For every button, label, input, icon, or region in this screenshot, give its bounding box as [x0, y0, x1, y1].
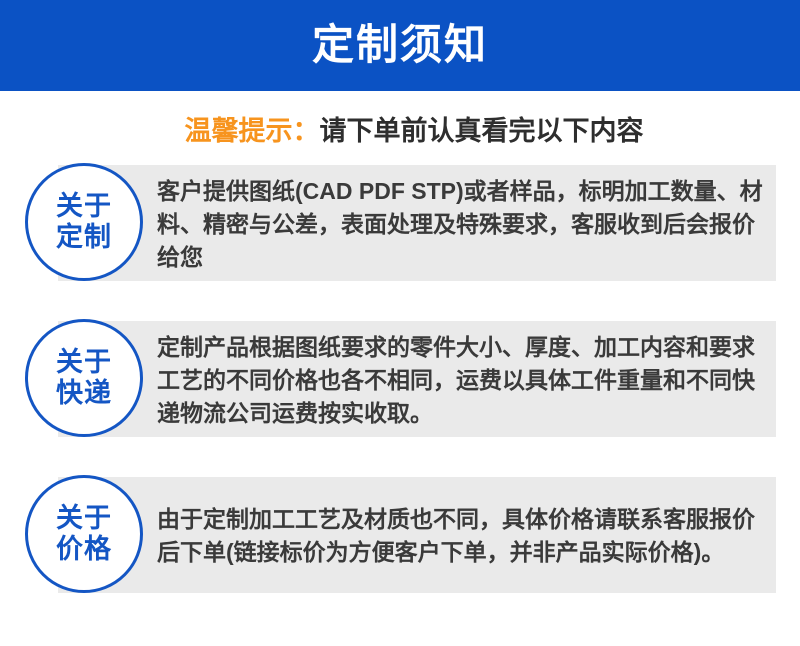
badge-shipping: 关于 快递	[25, 319, 143, 437]
subtitle-row: 温馨提示： 请下单前认真看完以下内容	[0, 91, 800, 165]
badge-line-top: 关于	[56, 347, 112, 378]
badge-customization: 关于 定制	[25, 163, 143, 281]
badge-line-top: 关于	[56, 191, 112, 222]
info-block-shipping: 定制产品根据图纸要求的零件大小、厚度、加工内容和要求工艺的不同价格也各不相同，运…	[0, 321, 800, 437]
header-banner: 定制须知	[0, 0, 800, 91]
badge-line-bottom: 定制	[56, 222, 112, 253]
info-text-shipping: 定制产品根据图纸要求的零件大小、厚度、加工内容和要求工艺的不同价格也各不相同，运…	[157, 321, 769, 437]
badge-pricing: 关于 价格	[25, 475, 143, 593]
info-blocks-container: 客户提供图纸(CAD PDF STP)或者样品，标明加工数量、材料、精密与公差，…	[0, 165, 800, 593]
info-block-pricing: 由于定制加工工艺及材质也不同，具体价格请联系客服报价后下单(链接标价为方便客户下…	[0, 477, 800, 593]
page-title: 定制须知	[312, 24, 488, 68]
info-block-customization: 客户提供图纸(CAD PDF STP)或者样品，标明加工数量、材料、精密与公差，…	[0, 165, 800, 281]
info-text-pricing: 由于定制加工工艺及材质也不同，具体价格请联系客服报价后下单(链接标价为方便客户下…	[157, 477, 769, 593]
info-text-body: 由于定制加工工艺及材质也不同，具体价格请联系客服报价后下单(链接标价为方便客户下…	[157, 503, 769, 569]
badge-line-bottom: 快递	[56, 378, 112, 409]
badge-line-bottom: 价格	[56, 534, 112, 565]
info-text-body: 定制产品根据图纸要求的零件大小、厚度、加工内容和要求工艺的不同价格也各不相同，运…	[157, 331, 769, 430]
subtitle-main: 请下单前认真看完以下内容	[320, 109, 644, 148]
info-text-body: 客户提供图纸(CAD PDF STP)或者样品，标明加工数量、材料、精密与公差，…	[157, 175, 769, 274]
info-text-customization: 客户提供图纸(CAD PDF STP)或者样品，标明加工数量、材料、精密与公差，…	[157, 165, 769, 281]
subtitle-highlight: 温馨提示：	[185, 109, 320, 148]
badge-line-top: 关于	[56, 503, 112, 534]
